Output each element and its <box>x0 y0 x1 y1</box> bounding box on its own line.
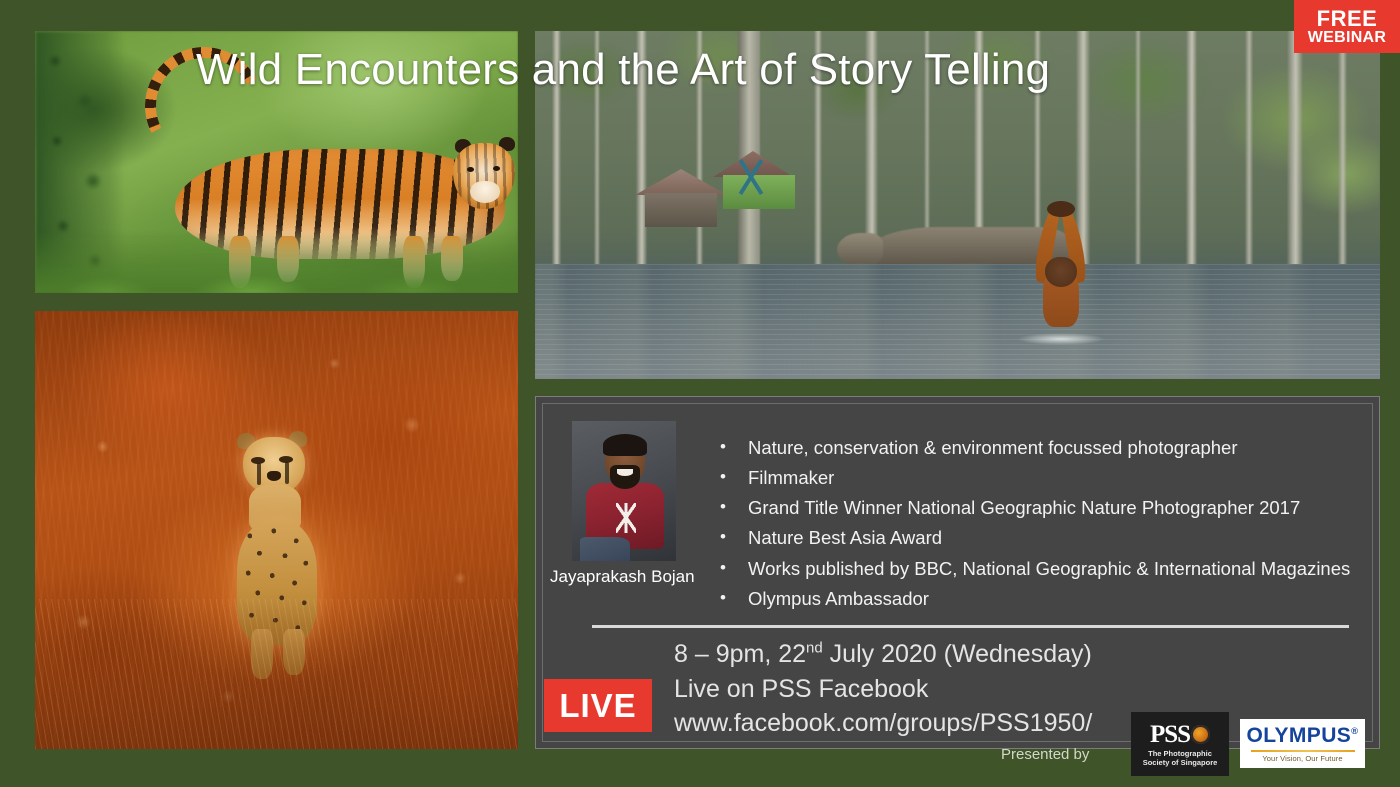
free-badge-line2: WEBINAR <box>1308 30 1387 46</box>
photo-cheetah <box>35 311 518 749</box>
pss-aperture-lion-icon <box>1191 725 1210 744</box>
speaker-portrait <box>572 421 676 561</box>
list-item: Nature, conservation & environment focus… <box>712 433 1352 463</box>
live-badge: LIVE <box>544 679 652 732</box>
olympus-rule <box>1251 750 1355 752</box>
page-title: Wild Encounters and the Art of Story Tel… <box>196 47 1226 93</box>
presented-by-label: Presented by <box>1001 746 1089 763</box>
speaker-name: Jayaprakash Bojan <box>550 567 676 587</box>
olympus-wordmark: OLYMPUS® <box>1246 724 1358 748</box>
pss-tagline-line1: The Photographic <box>1148 750 1212 758</box>
speaker-info-panel: Jayaprakash Bojan Nature, conservation &… <box>535 396 1380 749</box>
olympus-logo: OLYMPUS® Your Vision, Our Future <box>1240 719 1365 768</box>
cheetah-foreground-grass <box>35 599 518 749</box>
list-item: Grand Title Winner National Geographic N… <box>712 493 1352 523</box>
tiger-eye-right <box>493 166 500 171</box>
tiger-eye-left <box>467 167 474 172</box>
list-item: Nature Best Asia Award <box>712 523 1352 553</box>
webinar-poster: Wild Encounters and the Art of Story Tel… <box>0 0 1400 787</box>
water-reflections <box>535 264 1380 379</box>
pss-tagline-line2: Society of Singapore <box>1143 759 1218 767</box>
pss-wordmark-row: PSS <box>1150 721 1210 749</box>
olympus-tagline: Your Vision, Our Future <box>1262 754 1342 763</box>
list-item: Olympus Ambassador <box>712 584 1352 614</box>
olympus-registered-mark: ® <box>1351 726 1358 737</box>
speaker-credentials-list: Nature, conservation & environment focus… <box>712 433 1352 614</box>
tiger-grass <box>35 231 518 293</box>
house-gable-cross <box>731 157 771 197</box>
pss-logo: PSS The Photographic Society of Singapor… <box>1131 712 1229 776</box>
olympus-wordmark-text: OLYMPUS <box>1246 724 1351 747</box>
free-badge-line1: FREE <box>1317 8 1378 30</box>
event-datetime-suffix: July 2020 (Wednesday) <box>823 640 1092 668</box>
pss-wordmark: PSS <box>1150 721 1190 749</box>
speaker-block: Jayaprakash Bojan <box>572 421 676 587</box>
free-webinar-badge: FREE WEBINAR <box>1294 0 1400 53</box>
list-item: Works published by BBC, National Geograp… <box>712 554 1352 584</box>
event-datetime: 8 – 9pm, 22nd July 2020 (Wednesday) <box>674 637 1314 672</box>
event-channel: Live on PSS Facebook <box>674 672 1314 707</box>
section-divider <box>592 625 1349 628</box>
event-datetime-ordinal: nd <box>806 640 823 657</box>
orangutan <box>1025 207 1095 349</box>
list-item: Filmmaker <box>712 463 1352 493</box>
event-datetime-prefix: 8 – 9pm, 22 <box>674 640 806 668</box>
tiger-muzzle <box>470 181 500 203</box>
